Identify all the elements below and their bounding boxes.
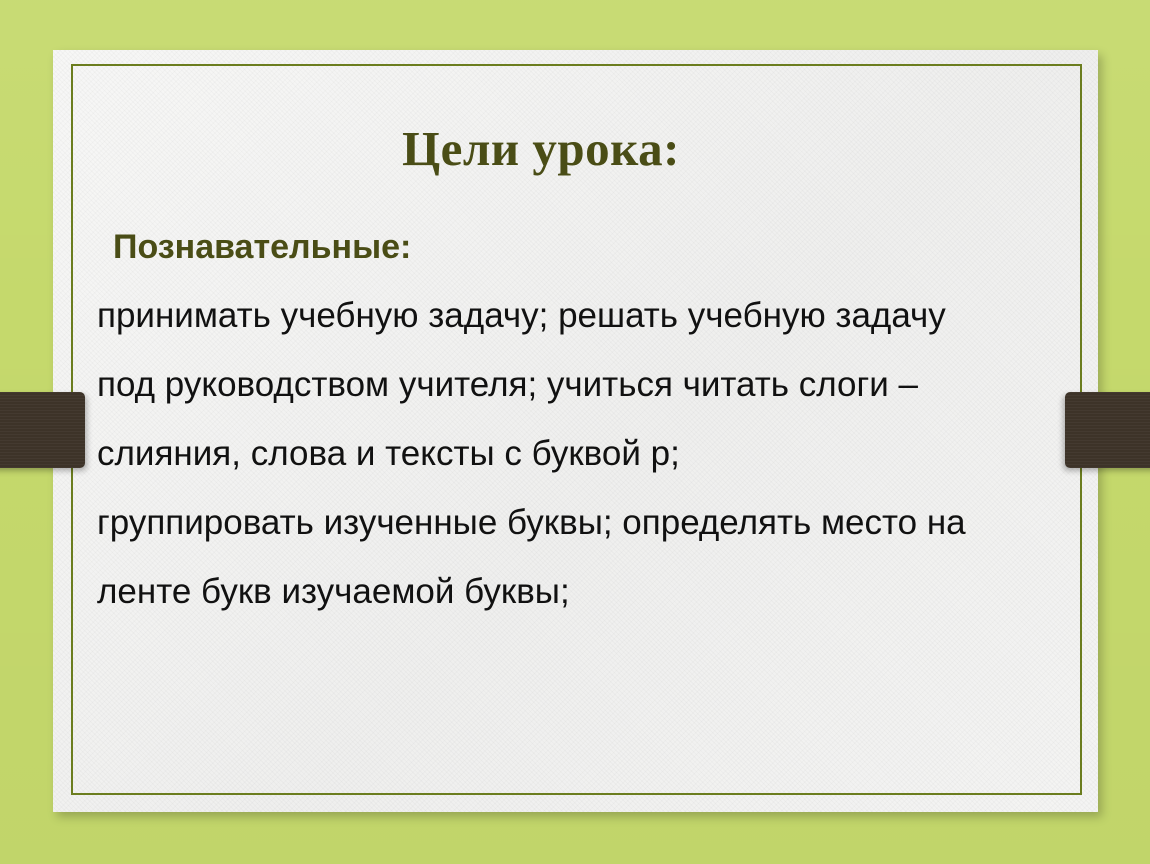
goals-block: Познавательные: принимать учебную задачу… (97, 230, 1072, 609)
right-ribbon-bar (1065, 392, 1150, 468)
goal-line: ленте букв изучаемой буквы; (97, 540, 1072, 609)
slide-content-card: Цели урока: Познавательные: принимать уч… (53, 50, 1098, 812)
presentation-slide: Цели урока: Познавательные: принимать уч… (0, 0, 1150, 864)
goals-subheading: Познавательные: (113, 230, 1072, 264)
goal-line: принимать учебную задачу; решать учебную… (97, 264, 1072, 333)
goal-line: группировать изученные буквы; определять… (97, 471, 1072, 540)
left-ribbon-bar (0, 392, 85, 468)
goal-line: под руководством учителя; учиться читать… (97, 333, 1072, 402)
slide-content: Цели урока: Познавательные: принимать уч… (71, 64, 1082, 795)
goal-line: слияния, слова и тексты с буквой р; (97, 402, 1072, 471)
page-title: Цели урока: (71, 122, 1011, 176)
